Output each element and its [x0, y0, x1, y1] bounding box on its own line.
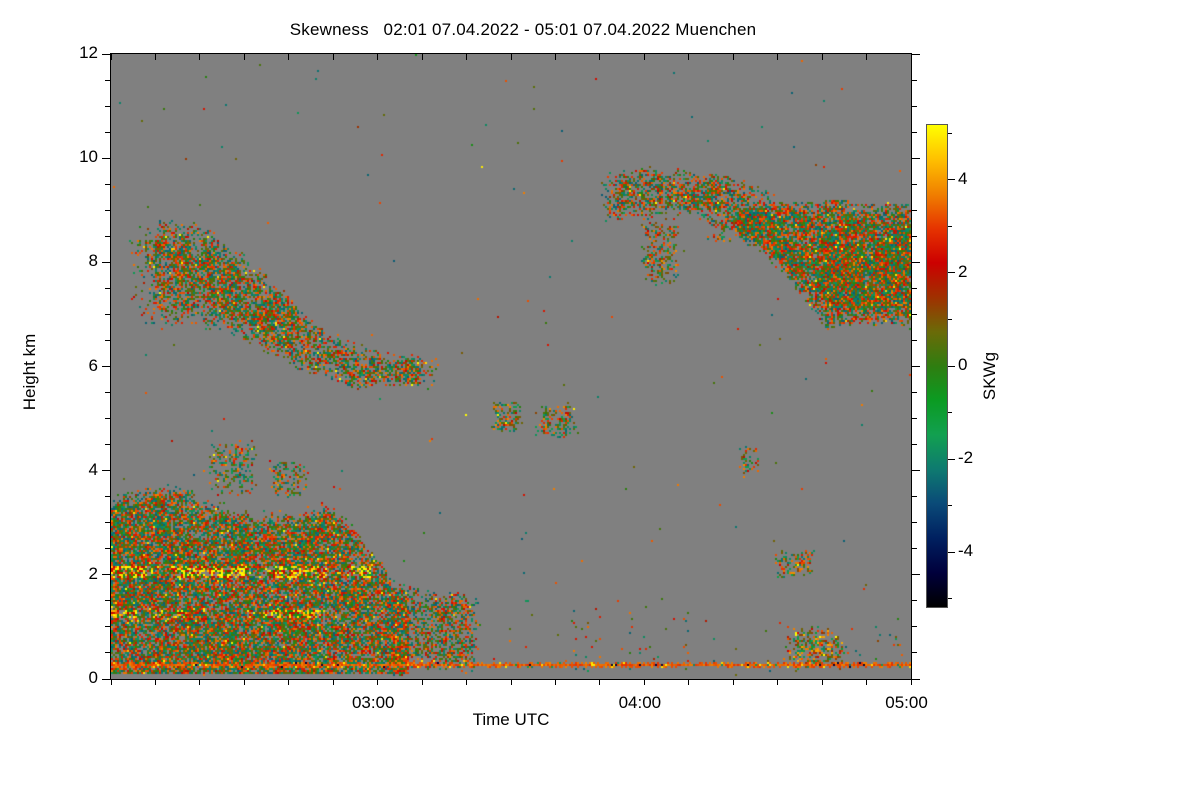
y-tick-mark	[105, 132, 111, 133]
x-tick-mark	[288, 679, 289, 685]
page-title: Skewness 02:01 07.04.2022 - 05:01 07.04.…	[0, 20, 1046, 40]
y-tick-mark	[105, 288, 111, 289]
y-tick-label: 4	[58, 460, 98, 480]
y-tick-mark-right	[911, 210, 917, 211]
y-tick-mark-right	[911, 314, 917, 315]
x-tick-mark	[111, 679, 112, 685]
y-tick-mark-right	[911, 262, 920, 263]
colorbar-tick-mark	[948, 226, 952, 227]
x-tick-mark	[688, 679, 689, 685]
x-tick-mark	[644, 679, 645, 685]
y-tick-mark	[105, 600, 111, 601]
y-tick-mark	[105, 522, 111, 523]
y-tick-mark-right	[911, 679, 920, 680]
colorbar-tick-mark	[948, 505, 952, 506]
y-tick-mark-right	[911, 366, 920, 367]
x-tick-mark	[422, 679, 423, 685]
colorbar-tick-mark	[948, 272, 955, 273]
y-tick-mark	[102, 158, 111, 159]
x-tick-mark	[333, 679, 334, 685]
y-tick-mark	[105, 392, 111, 393]
x-tick-mark-top	[644, 54, 645, 60]
x-tick-mark-top	[199, 54, 200, 60]
x-tick-mark-top	[288, 54, 289, 60]
y-tick-label: 0	[58, 668, 98, 688]
y-tick-mark-right	[911, 132, 917, 133]
radar-heatmap-plot	[110, 53, 912, 680]
y-tick-mark-right	[911, 80, 917, 81]
y-tick-label: 6	[58, 356, 98, 376]
x-tick-mark-top	[866, 54, 867, 60]
y-tick-mark	[105, 652, 111, 653]
y-tick-label: 2	[58, 564, 98, 584]
y-tick-label: 12	[58, 43, 98, 63]
x-tick-mark-top	[155, 54, 156, 60]
y-tick-mark	[105, 236, 111, 237]
x-tick-mark	[911, 679, 912, 685]
colorbar	[926, 124, 948, 608]
y-tick-mark	[105, 80, 111, 81]
y-tick-mark	[105, 340, 111, 341]
y-tick-mark-right	[911, 444, 917, 445]
x-tick-mark-top	[377, 54, 378, 60]
x-tick-mark-top	[911, 54, 912, 60]
y-tick-mark	[105, 444, 111, 445]
y-tick-mark	[102, 470, 111, 471]
y-tick-mark	[102, 574, 111, 575]
colorbar-tick-mark	[948, 552, 955, 553]
y-tick-mark-right	[911, 652, 917, 653]
x-tick-mark	[466, 679, 467, 685]
y-tick-mark-right	[911, 496, 917, 497]
y-tick-mark	[102, 366, 111, 367]
y-tick-mark	[105, 314, 111, 315]
colorbar-tick-label: -2	[958, 448, 1002, 468]
x-tick-mark	[511, 679, 512, 685]
x-tick-mark	[822, 679, 823, 685]
x-axis-title: Time UTC	[110, 710, 912, 730]
y-tick-mark-right	[911, 600, 917, 601]
x-tick-mark-top	[555, 54, 556, 60]
y-tick-mark-right	[911, 626, 917, 627]
colorbar-tick-mark	[948, 319, 952, 320]
x-tick-mark	[377, 679, 378, 685]
y-tick-mark-right	[911, 522, 917, 523]
colorbar-title: SKWg	[980, 316, 1000, 436]
y-tick-mark-right	[911, 106, 917, 107]
y-tick-mark-right	[911, 184, 917, 185]
y-tick-mark	[105, 210, 111, 211]
y-tick-mark-right	[911, 392, 917, 393]
colorbar-gradient	[927, 125, 947, 607]
colorbar-tick-mark	[948, 412, 952, 413]
x-tick-mark-top	[688, 54, 689, 60]
y-tick-label: 8	[58, 251, 98, 271]
colorbar-tick-label: 4	[958, 169, 1002, 189]
colorbar-tick-mark	[948, 179, 955, 180]
x-tick-mark	[555, 679, 556, 685]
y-tick-mark	[102, 54, 111, 55]
colorbar-tick-mark	[948, 133, 952, 134]
y-tick-mark	[105, 496, 111, 497]
y-tick-mark-right	[911, 418, 917, 419]
chart-page: Skewness 02:01 07.04.2022 - 05:01 07.04.…	[0, 0, 1200, 800]
y-tick-label: 10	[58, 147, 98, 167]
x-tick-mark	[244, 679, 245, 685]
x-tick-mark-top	[333, 54, 334, 60]
y-tick-mark-right	[911, 236, 917, 237]
x-tick-mark	[599, 679, 600, 685]
x-tick-mark	[866, 679, 867, 685]
x-tick-mark	[777, 679, 778, 685]
y-tick-mark	[105, 548, 111, 549]
y-tick-mark	[105, 106, 111, 107]
x-tick-mark-top	[599, 54, 600, 60]
colorbar-tick-mark	[948, 366, 955, 367]
x-tick-mark-top	[111, 54, 112, 60]
y-tick-mark-right	[911, 574, 920, 575]
y-tick-mark-right	[911, 340, 917, 341]
x-tick-mark	[199, 679, 200, 685]
y-tick-mark-right	[911, 470, 920, 471]
radar-heatmap-canvas	[111, 54, 911, 679]
x-tick-mark-top	[244, 54, 245, 60]
y-tick-mark-right	[911, 158, 920, 159]
x-tick-mark-top	[822, 54, 823, 60]
y-tick-mark-right	[911, 548, 917, 549]
colorbar-tick-label: -4	[958, 541, 1002, 561]
x-tick-mark	[733, 679, 734, 685]
y-tick-mark	[105, 184, 111, 185]
y-tick-mark-right	[911, 288, 917, 289]
x-tick-mark-top	[777, 54, 778, 60]
y-tick-mark	[102, 679, 111, 680]
colorbar-tick-label: 2	[958, 262, 1002, 282]
colorbar-tick-mark	[948, 459, 955, 460]
y-axis-title: Height km	[20, 302, 40, 442]
y-tick-mark	[102, 262, 111, 263]
y-tick-mark	[105, 626, 111, 627]
x-tick-mark-top	[511, 54, 512, 60]
colorbar-tick-mark	[948, 598, 952, 599]
x-tick-mark-top	[422, 54, 423, 60]
x-tick-mark-top	[466, 54, 467, 60]
x-tick-mark-top	[733, 54, 734, 60]
y-tick-mark-right	[911, 54, 920, 55]
y-tick-mark	[105, 418, 111, 419]
x-tick-mark	[155, 679, 156, 685]
